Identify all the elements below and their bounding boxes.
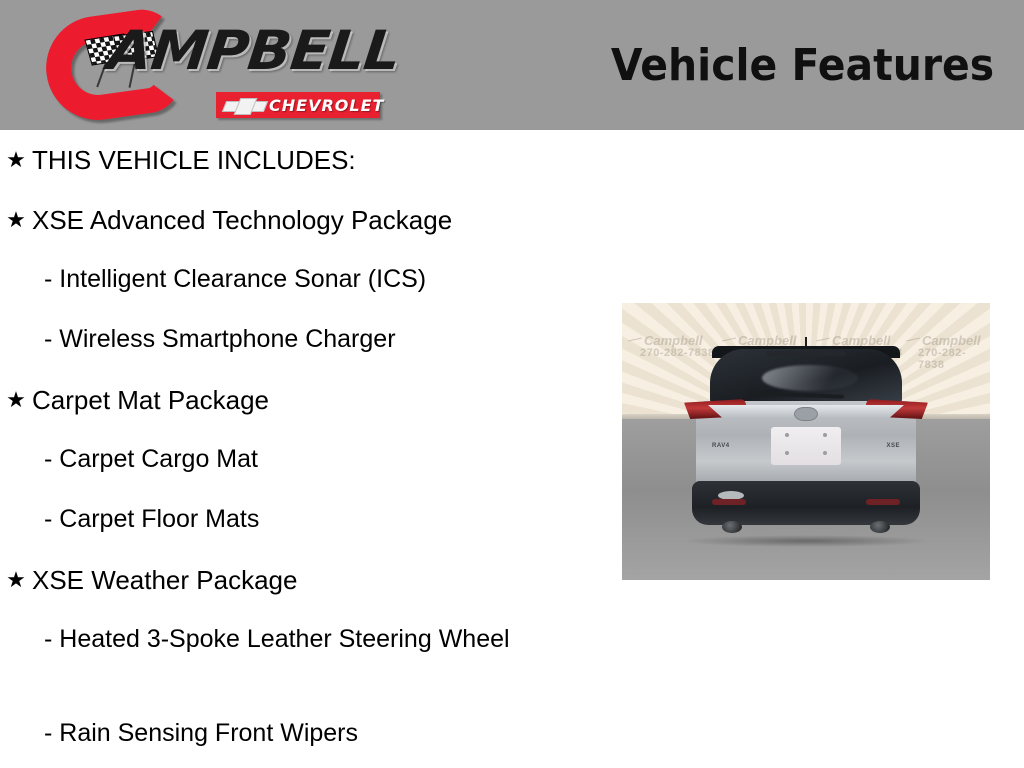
- ground-shadow: [681, 535, 931, 547]
- plate-bolt: [823, 433, 827, 437]
- feature-label: XSE Advanced Technology Package: [32, 202, 452, 238]
- feature-sub-label: - Intelligent Clearance Sonar (ICS): [44, 262, 426, 297]
- list-item: ★ XSE Weather Package: [0, 562, 600, 622]
- rear-window: [710, 349, 902, 407]
- trim-badge: XSE: [886, 443, 900, 449]
- chevrolet-label: CHEVROLET: [269, 96, 384, 115]
- list-item: ★ XSE Advanced Technology Package: [0, 202, 600, 262]
- chevrolet-bowtie-icon: [224, 98, 264, 113]
- star-icon: ★: [0, 562, 32, 598]
- page-header: AMPBELL CHEVROLET Vehicle Features: [0, 0, 1024, 130]
- license-plate-area: [771, 427, 841, 465]
- star-icon: ★: [0, 202, 32, 238]
- chevrolet-banner: CHEVROLET: [216, 92, 380, 118]
- feature-sub-label: - Rain Sensing Front Wipers: [44, 716, 358, 751]
- feature-label: Carpet Mat Package: [32, 382, 269, 418]
- list-item: - Heated 3-Spoke Leather Steering Wheel: [0, 622, 600, 716]
- feature-sub-label: - Wireless Smartphone Charger: [44, 322, 396, 357]
- list-item: ★ Carpet Mat Package: [0, 382, 600, 442]
- model-badge: RAV4: [712, 443, 730, 449]
- toyota-emblem: [794, 407, 818, 421]
- feature-sub-label: - Carpet Cargo Mat: [44, 442, 258, 477]
- star-icon: ★: [0, 382, 32, 418]
- vehicle-photo[interactable]: Campbell 270-282-7838 Campbell 270-282-7…: [622, 303, 990, 580]
- plate-bolt: [785, 433, 789, 437]
- plate-bolt: [785, 451, 789, 455]
- list-item: - Carpet Floor Mats: [0, 502, 600, 562]
- logo-wordmark: AMPBELL: [105, 24, 402, 78]
- feature-label: THIS VEHICLE INCLUDES:: [32, 142, 356, 178]
- feature-sub-label: - Heated 3-Spoke Leather Steering Wheel: [44, 622, 510, 657]
- feature-label: XSE Weather Package: [32, 562, 297, 598]
- reflector-left: [712, 499, 746, 505]
- list-item: - Intelligent Clearance Sonar (ICS): [0, 262, 600, 322]
- list-item: - Rain Sensing Front Wipers: [0, 716, 600, 768]
- plate-bolt: [823, 451, 827, 455]
- feature-sub-label: - Carpet Floor Mats: [44, 502, 259, 537]
- list-item: - Wireless Smartphone Charger: [0, 322, 600, 382]
- dealer-logo: AMPBELL CHEVROLET: [40, 6, 380, 124]
- star-icon: ★: [0, 142, 32, 178]
- list-item: - Carpet Cargo Mat: [0, 442, 600, 502]
- vehicle-rear-view: RAV4 XSE: [690, 349, 922, 539]
- page-title: Vehicle Features: [611, 40, 994, 91]
- list-item: ★ THIS VEHICLE INCLUDES:: [0, 142, 600, 202]
- high-mount-brake-light: [766, 351, 846, 356]
- reflector-right: [866, 499, 900, 505]
- vehicle-features-page: AMPBELL CHEVROLET Vehicle Features ★ THI…: [0, 0, 1024, 768]
- exhaust-tip-right: [870, 521, 890, 533]
- exhaust-tip-left: [722, 521, 742, 533]
- feature-list: ★ THIS VEHICLE INCLUDES: ★ XSE Advanced …: [0, 130, 600, 768]
- glass-reflection: [762, 365, 858, 391]
